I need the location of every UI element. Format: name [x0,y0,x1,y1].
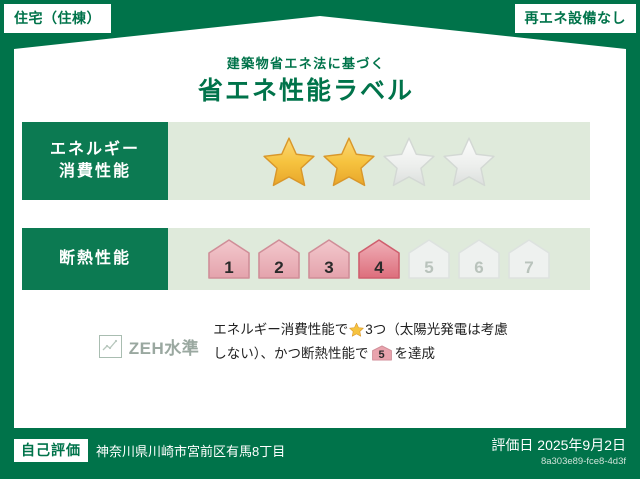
evaluation-id: 8a303e89-fce8-4d3f [491,456,626,468]
insulation-performance-label: 断熱性能 [22,228,168,290]
zeh-chart-icon [99,335,122,358]
star-rating [262,135,496,187]
footer-right-group: 評価日 2025年9月2日 8a303e89-fce8-4d3f [491,436,626,469]
insulation-step-scale: 1 2 [206,237,552,281]
property-address: 神奈川県川崎市宮前区有馬8丁目 [96,441,285,460]
renewable-equipment-tab: 再エネ設備なし [515,4,637,33]
insulation-step-1-number: 1 [206,259,252,276]
energy-label-line2: 消費性能 [59,161,131,183]
house-icon-inline: 5 [371,345,393,361]
insulation-label-line1: 断熱性能 [59,248,131,270]
zeh-desc-house-number: 5 [371,350,393,361]
star-icon-inline [349,322,364,337]
zeh-mark: ZEH水準 [99,318,200,359]
insulation-step-3-number: 3 [306,259,352,276]
insulation-step-4-number: 4 [356,259,402,276]
zeh-desc-part1: エネルギー消費性能で [213,322,348,337]
zeh-desc-part3: を達成 [395,346,436,361]
zeh-standard-section: ZEH水準 エネルギー消費性能で3つ（太陽光発電は考慮しない）、かつ断熱性能で5… [22,318,590,365]
insulation-step-6-number: 6 [456,259,502,276]
energy-performance-label: 住宅（住棟） 再エネ設備なし 建築物省エネ法に基づく 省エネ性能ラベル エネルギ… [0,0,640,479]
insulation-step-5: 5 [406,237,452,281]
insulation-step-2-number: 2 [256,259,302,276]
zeh-label: ZEH水準 [129,334,200,359]
building-type-tab: 住宅（住棟） [4,4,111,33]
title-block: 建築物省エネ法に基づく 省エネ性能ラベル [0,56,612,107]
star-icon-empty-3 [382,135,436,187]
zeh-icon-glyph [100,336,120,356]
insulation-step-6: 6 [456,237,502,281]
footer-bar: 自己評価 神奈川県川崎市宮前区有馬8丁目 評価日 2025年9月2日 8a303… [0,429,640,479]
star-icon-empty-4 [442,135,496,187]
energy-performance-row: エネルギー 消費性能 [22,122,590,200]
insulation-step-2: 2 [256,237,302,281]
insulation-performance-row: 断熱性能 1 [22,228,590,290]
insulation-step-5-number: 5 [406,259,452,276]
insulation-step-7-number: 7 [506,259,552,276]
footer-left-group: 自己評価 神奈川県川崎市宮前区有馬8丁目 [14,439,285,462]
zeh-desc-star-count: 3つ（太陽光発電 [365,322,467,337]
insulation-rating-panel: 1 2 [168,228,590,290]
title-subtitle: 建築物省エネ法に基づく [0,56,612,72]
insulation-step-7: 7 [506,237,552,281]
evaluation-date: 評価日 2025年9月2日 [491,436,626,454]
zeh-description: エネルギー消費性能で3つ（太陽光発電は考慮しない）、かつ断熱性能で5を達成 [213,318,513,365]
energy-rating-panel [168,122,590,200]
page-title: 省エネ性能ラベル [0,76,612,107]
self-evaluation-badge: 自己評価 [14,439,88,462]
insulation-step-4-current: 4 [356,237,402,281]
star-icon-filled-1 [262,135,316,187]
energy-label-line1: エネルギー [50,139,140,161]
star-icon-filled-2 [322,135,376,187]
insulation-step-3: 3 [306,237,352,281]
insulation-step-1: 1 [206,237,252,281]
energy-performance-label: エネルギー 消費性能 [22,122,168,200]
